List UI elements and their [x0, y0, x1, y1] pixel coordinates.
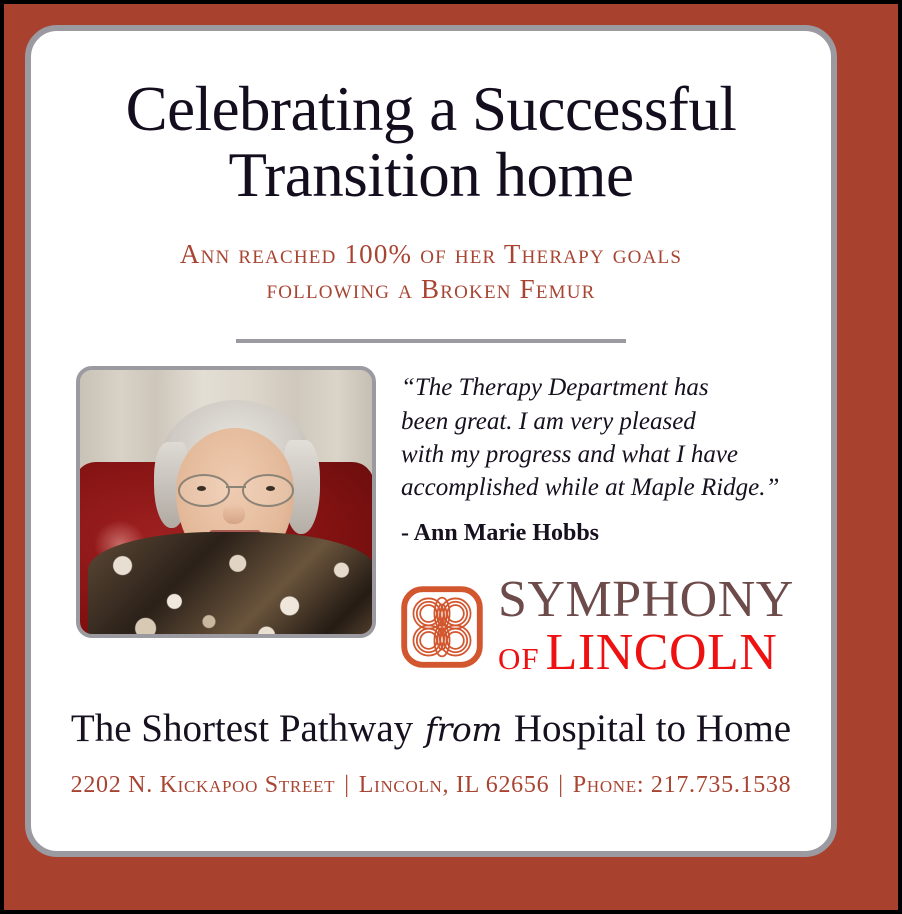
testimonial-quote: “The Therapy Department has been great. … — [401, 371, 803, 504]
eyeglasses-shape — [178, 474, 294, 504]
subheadline-line-2: following a Broken Femur — [85, 272, 777, 307]
ad-outer-frame: Celebrating a Successful Transition home… — [4, 4, 898, 910]
address-separator-1: | — [335, 772, 359, 798]
ad-card: Celebrating a Successful Transition home… — [25, 25, 837, 857]
address-separator-2: | — [549, 772, 573, 798]
quote-line-2: been great. I am very pleased — [401, 405, 803, 438]
glasses-bridge-shape — [226, 486, 246, 488]
quote-line-1: “The Therapy Department has — [401, 371, 803, 404]
nose-shape — [223, 504, 245, 524]
logo-of-lincoln-line: OFLINCOLN — [498, 627, 803, 679]
subheadline-line-1: Ann reached 100% of her Therapy goals — [180, 239, 682, 269]
lens-left-shape — [178, 474, 230, 507]
headline-line-2: Transition home — [57, 142, 805, 208]
quote-attribution: - Ann Marie Hobbs — [401, 520, 803, 547]
symphony-emblem-icon — [400, 585, 484, 669]
logo-wordmark: SYMPHONY OFLINCOLN — [498, 575, 803, 678]
horizontal-divider — [236, 339, 626, 343]
tagline: The Shortest Pathway from Hospital to Ho… — [49, 706, 813, 751]
address-phone: Phone: 217.735.1538 — [573, 772, 792, 798]
page-title: Celebrating a Successful Transition home — [57, 76, 805, 208]
photo-image — [80, 370, 372, 634]
subheadline: Ann reached 100% of her Therapy goals fo… — [85, 237, 777, 306]
address-street: 2202 N. Kickapoo Street — [71, 772, 336, 798]
address-city-state-zip: Lincoln, IL 62656 — [359, 772, 550, 798]
contact-address-line: 2202 N. Kickapoo Street|Lincoln, IL 6265… — [49, 772, 813, 799]
logo-symphony-text: SYMPHONY — [498, 575, 803, 624]
quote-column: “The Therapy Department has been great. … — [376, 366, 803, 678]
quote-line-4: accomplished while at Maple Ridge.” — [401, 471, 803, 504]
lens-right-shape — [242, 474, 294, 507]
logo-lincoln-text: LINCOLN — [546, 624, 778, 681]
tagline-part-1: The Shortest Pathway — [71, 707, 413, 750]
divider-container — [31, 339, 831, 343]
resident-photo — [76, 366, 376, 638]
headline-line-1: Celebrating a Successful — [126, 74, 737, 144]
tagline-part-2: Hospital to Home — [514, 707, 791, 750]
quote-line-3: with my progress and what I have — [401, 438, 803, 471]
blouse-shape — [88, 532, 376, 638]
testimonial-section: “The Therapy Department has been great. … — [31, 366, 831, 678]
tagline-script-word: from — [423, 710, 504, 749]
brand-logo: SYMPHONY OFLINCOLN — [400, 575, 803, 678]
logo-of-text: OF — [498, 641, 540, 676]
